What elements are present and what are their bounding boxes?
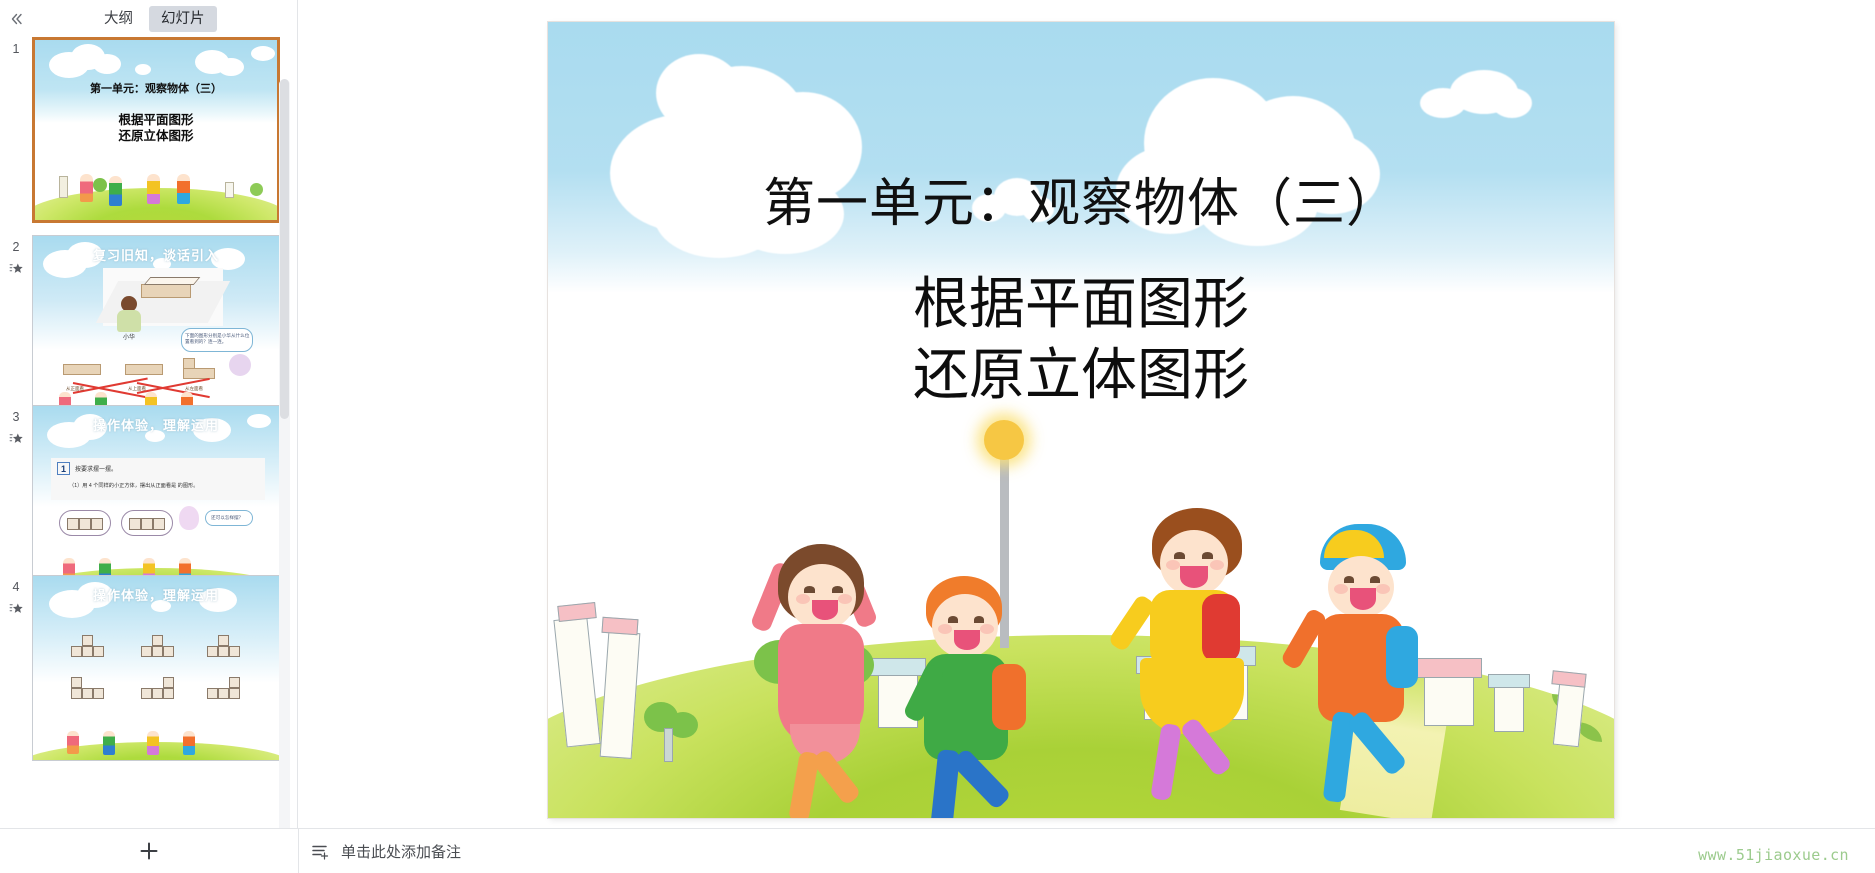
animation-star-icon[interactable] — [9, 261, 24, 276]
tab-slides[interactable]: 幻灯片 — [149, 6, 217, 32]
thumbnail-scrollbar-thumb[interactable] — [280, 79, 289, 419]
bottom-status-bar: 单击此处添加备注 www.51jiaoxue.cn — [0, 828, 1875, 873]
thumbnail-bubble-2: 下面的图形分别是小华从什么位置看到的？连一连。 — [185, 333, 251, 345]
thumbnail-meta-3: 3 — [0, 405, 32, 591]
thumbnail-title-1: 第一单元：观察物体（三） — [35, 80, 277, 96]
thumbnail-preview-4[interactable]: 操作体验，理解运用 — [32, 575, 280, 761]
thumbnail-item-4[interactable]: 4 操作体验，理解运用 — [0, 575, 290, 761]
kid-4-orange-boy — [1300, 522, 1480, 818]
thumbnail-scrollbar-track[interactable] — [279, 79, 290, 835]
add-slide-button[interactable] — [0, 829, 298, 873]
task-number-badge: 1 — [57, 462, 70, 475]
task-subtext-3: （1）用 4 个同样的小正方体，摆出从正面看是 的图形。 — [69, 482, 198, 489]
collapse-panel-icon[interactable] — [0, 0, 34, 37]
thumbnail-subtitle-1: 根据平面图形 还原立体图形 — [35, 112, 277, 145]
kid-2-green-boy — [904, 572, 1084, 818]
animation-star-icon[interactable] — [9, 601, 24, 616]
site-watermark: www.51jiaoxue.cn — [1698, 846, 1849, 864]
slide-subtitle-line-2: 还原立体图形 — [913, 343, 1249, 408]
current-slide-canvas[interactable]: 第一单元：观察物体（三） 根据平面图形 还原立体图形 — [548, 22, 1614, 818]
notes-icon — [310, 841, 330, 861]
slide-thumbnail-list: 1 第一单元：观察物体（三） — [0, 37, 290, 835]
thumbnail-item-1[interactable]: 1 第一单元：观察物体（三） — [0, 37, 290, 223]
thumbnail-caption-2: 小华 — [123, 332, 135, 341]
thumbnail-meta-4: 4 — [0, 575, 32, 761]
kid-3-yellow-girl — [1130, 502, 1310, 802]
slide-subtitle-line-1: 根据平面图形 — [913, 272, 1249, 337]
thumbnail-banner-3: 操作体验，理解运用 — [33, 415, 279, 434]
slide-thumbnail-panel[interactable]: 1 第一单元：观察物体（三） — [0, 37, 298, 835]
thumbnail-preview-1[interactable]: 第一单元：观察物体（三） 根据平面图形 还原立体图形 — [32, 37, 280, 223]
thumbnail-meta-1: 1 — [0, 37, 32, 223]
slide-number-2: 2 — [13, 241, 20, 254]
thumbnail-item-3[interactable]: 3 操作体验，理解运用 — [0, 405, 290, 591]
slide-subtitle[interactable]: 根据平面图形 还原立体图形 — [548, 269, 1614, 411]
thumbnail-preview-2[interactable]: 复习旧知，谈话引入 小华 下面的图形分别是小华从什么位置看到的？连 — [32, 235, 280, 421]
animation-star-icon[interactable] — [9, 431, 24, 446]
slide-editing-stage[interactable]: 第一单元：观察物体（三） 根据平面图形 还原立体图形 — [298, 0, 1875, 828]
thumbnail-banner-4: 操作体验，理解运用 — [33, 585, 279, 604]
tab-outline[interactable]: 大纲 — [92, 6, 145, 32]
slide-number-4: 4 — [13, 581, 20, 594]
notes-placeholder-text: 单击此处添加备注 — [341, 841, 461, 862]
double-chevron-left-icon — [9, 11, 25, 27]
thumbnail-banner-2: 复习旧知，谈话引入 — [33, 245, 279, 264]
powerpoint-editor-window: 大纲 幻灯片 1 — [0, 0, 1875, 873]
thumbnail-bubble-3: 还可以怎样摆？ — [211, 515, 243, 521]
view-tabs: 大纲 幻灯片 — [92, 6, 217, 32]
thumbnail-meta-2: 2 — [0, 235, 32, 421]
slide-number-1: 1 — [13, 43, 20, 56]
thumbnail-preview-3[interactable]: 操作体验，理解运用 1 按要求摆一摆。 （1）用 4 个同样的小正方体，摆出从正… — [32, 405, 280, 591]
notes-pane[interactable]: 单击此处添加备注 — [298, 829, 1875, 873]
slide-title[interactable]: 第一单元：观察物体（三） — [548, 161, 1614, 236]
panel-header-toolbar: 大纲 幻灯片 — [0, 0, 298, 37]
thumbnail-item-2[interactable]: 2 复习旧知，谈话引入 — [0, 235, 290, 421]
slide-number-3: 3 — [13, 411, 20, 424]
plus-icon — [138, 840, 160, 862]
task-text-3: 按要求摆一摆。 — [75, 464, 117, 473]
